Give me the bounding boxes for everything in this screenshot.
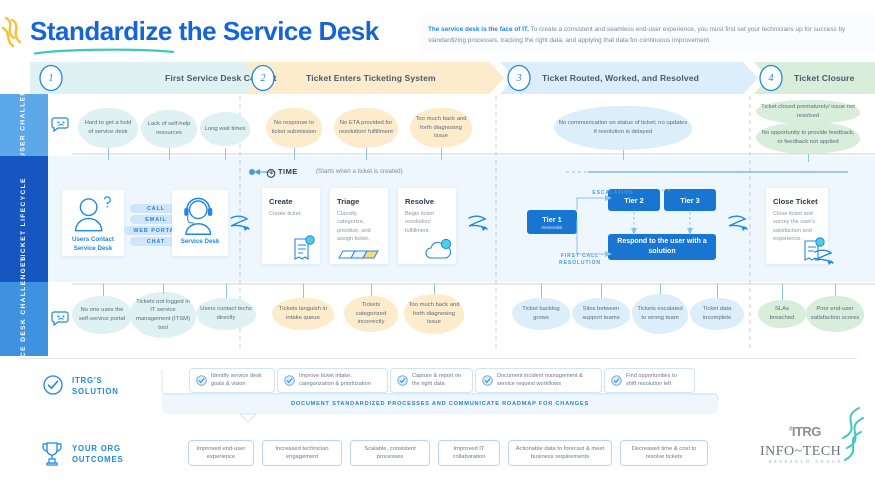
blob-euc-1-text: Lack of self-help resources	[145, 120, 193, 137]
solution-chip-1-label: Improve ticket intake, categorization & …	[299, 373, 381, 389]
blob-sdc-1-text: Tickets not logged in IT service managem…	[134, 298, 192, 332]
outcome-chip-1[interactable]: Increased technician engagement	[262, 440, 342, 466]
blob-sdc-0-text: No one uses the self-service portal	[76, 306, 128, 323]
solution-chip-2-label: Capture & report on the right data	[412, 373, 466, 389]
blob-sdc-4-text: Tickets categorized incorrectly	[348, 301, 394, 327]
time-note: (Starts when a ticket is created)	[316, 168, 403, 175]
lifecycle-card-create-title: Create	[269, 197, 313, 206]
arrow-squiggle-1-icon	[228, 212, 254, 238]
tick-sdc-11	[835, 284, 836, 296]
solution-chip-4[interactable]: Find opportunities to shift resolution l…	[604, 368, 695, 393]
blob-euc-2: Long wait times	[200, 112, 250, 146]
solution-chip-0[interactable]: Identify service desk goals & vision	[189, 368, 275, 393]
solution-chip-3-label: Document incident management & service r…	[497, 373, 595, 389]
lifecycle-card-resolve[interactable]: Resolve Begin ticket resolution/ fulfill…	[398, 188, 456, 264]
blob-euc-5-text: Too much back and forth diagnosing issue	[414, 115, 468, 141]
outcome-chip-0[interactable]: Improved end-user experience	[188, 440, 254, 466]
blob-sdc-8: Tickets escalated to wrong team	[632, 294, 688, 334]
blob-euc-8: No opportunity to provide feedback, or f…	[756, 122, 860, 154]
blob-euc-3: No response to ticket submission	[266, 108, 322, 148]
solution-check-icon-2	[397, 375, 408, 386]
blob-sdc-6-text: Ticket backlog grows	[516, 305, 566, 322]
blob-sdc-9-text: Ticket data incomplete	[694, 305, 740, 322]
tick-sdc-3	[303, 284, 304, 298]
outcomes-label-line1: YOUR ORG	[72, 444, 121, 453]
ticket-doc-icon	[291, 234, 317, 262]
blob-sdc-5: Too much back and forth diagnosing issue	[404, 294, 464, 334]
tick-euc-3	[294, 148, 295, 160]
solution-section-label: ITRG'S SOLUTION	[72, 376, 119, 397]
blob-sdc-5-text: Too much back and forth diagnosing issue	[408, 301, 460, 327]
blob-euc-6-text: No communication on status of ticket; no…	[558, 119, 688, 136]
outcome-chip-1-label: Increased technician engagement	[268, 445, 336, 461]
blob-euc-0: Hard to get a hold of service desk	[78, 108, 138, 148]
row-itrg-solution: ITRG'S SOLUTION Identify service desk go…	[0, 356, 875, 426]
stage-2[interactable]: 2 Ticket Enters Ticketing System	[244, 62, 504, 94]
blob-sdc-7: Silos between support teams	[572, 298, 630, 330]
lifecycle-card-create-desc: Create ticket.	[269, 210, 313, 218]
clock-icon	[266, 168, 276, 178]
itrg-logo-text: ITRG	[792, 424, 821, 439]
outcome-chip-5-label: Decreased time & cost to resolve tickets	[626, 445, 702, 461]
tick-euc-1	[169, 148, 170, 160]
outcomes-section-label: YOUR ORG OUTCOMES	[72, 444, 123, 465]
sorted-folders-icon	[337, 244, 379, 262]
itrg-logo: #ITRG	[789, 424, 821, 439]
stage-2-number: 2	[250, 64, 276, 92]
blob-sdc-2-text: Users contact techs directly	[200, 305, 252, 322]
stage-2-num-text: 2	[250, 64, 276, 92]
end-user-face-icon	[50, 112, 72, 134]
tick-sdc-4	[371, 284, 372, 296]
blob-sdc-9: Ticket data incomplete	[690, 298, 744, 330]
blob-sdc-0: No one uses the self-service portal	[72, 296, 132, 334]
header: Standardize the Service Desk The service…	[0, 0, 875, 62]
solution-top-divider	[18, 358, 857, 359]
lifecycle-card-triage[interactable]: Triage Classify, categorize, prioritize,…	[330, 188, 388, 264]
tick-euc-0	[108, 148, 109, 160]
solution-check-icon-4	[611, 375, 622, 386]
lifecycle-card-resolve-desc: Begin ticket resolution/ fulfillment.	[405, 210, 449, 235]
lifecycle-card-triage-desc: Classify, categorize, prioritize, and as…	[337, 210, 381, 244]
solution-label-line2: SOLUTION	[72, 387, 119, 396]
stage-3-number: 3	[506, 64, 532, 92]
headset-agent-icon	[175, 194, 225, 236]
outcome-chip-3-label: Improved IT collaboration	[444, 445, 494, 461]
blob-euc-0-text: Hard to get a hold of service desk	[82, 119, 134, 136]
lifecycle-card-create[interactable]: Create Create ticket.	[262, 188, 320, 264]
tick-euc-4	[366, 148, 367, 160]
outcome-chip-4-label: Actionable data to forecast & meet busin…	[514, 445, 606, 461]
stage-4-label: Ticket Closure	[794, 73, 854, 83]
tick-sdc-7	[601, 284, 602, 298]
blob-euc-2-text: Long wait times	[205, 125, 246, 134]
blob-sdc-10-text: SLAs breached	[762, 305, 802, 322]
lifecycle-card-resolve-title: Resolve	[405, 197, 449, 206]
blob-sdc-11-text: Poor end-user satisfaction scores	[810, 305, 860, 322]
stage-3[interactable]: 3 Ticket Routed, Worked, and Resolved	[500, 62, 758, 94]
blob-sdc-2: Users contact techs directly	[196, 298, 256, 330]
blob-euc-7-text: Ticket closed prematurely/ issue not res…	[760, 103, 856, 120]
arrow-squiggle-3-icon	[726, 212, 752, 238]
page-title: Standardize the Service Desk	[30, 16, 379, 47]
infographic-canvas: Standardize the Service Desk The service…	[0, 0, 875, 492]
blob-sdc-3-text: Tickets languish in intake queue	[276, 305, 330, 322]
blob-euc-8-text: No opportunity to provide feedback, or f…	[760, 129, 856, 146]
blob-sdc-6: Ticket backlog grows	[512, 298, 570, 330]
row-your-org-outcomes: YOUR ORG OUTCOMES Improved end-user expe…	[0, 426, 875, 492]
blob-sdc-10: SLAs breached	[758, 300, 806, 328]
solution-check-icon-0	[196, 375, 207, 386]
stage-banner: 1 First Service Desk Contact 2 Ticket En…	[0, 62, 875, 94]
tick-sdc-8	[660, 284, 661, 294]
outcome-chip-3[interactable]: Improved IT collaboration	[438, 440, 500, 466]
node-service-desk[interactable]: Service Desk	[172, 190, 228, 256]
tick-sdc-10	[782, 284, 783, 300]
arrow-squiggle-2-icon	[466, 212, 492, 238]
blob-sdc-1: Tickets not logged in IT service managem…	[130, 292, 196, 338]
blob-sdc-3: Tickets languish in intake queue	[272, 298, 334, 330]
stage-4[interactable]: 4 Ticket Closure	[754, 62, 875, 94]
tick-euc-6	[623, 150, 624, 160]
node-users-contact-label: Users Contact Service Desk	[62, 236, 124, 253]
blob-euc-7: Ticket closed prematurely/ issue not res…	[756, 100, 860, 124]
blob-sdc-7-text: Silos between support teams	[576, 305, 626, 322]
solution-chip-1[interactable]: Improve ticket intake, categorization & …	[277, 368, 388, 393]
resolve-cloud-icon	[424, 238, 454, 262]
solution-chip-0-label: Identify service desk goals & vision	[211, 373, 268, 389]
outcome-chip-0-label: Improved end-user experience	[194, 445, 248, 461]
intro-paragraph: The service desk is the face of IT. To c…	[428, 24, 858, 46]
outcome-chip-4[interactable]: Actionable data to forecast & meet busin…	[508, 440, 612, 466]
stage-1-number: 1	[38, 64, 64, 92]
tick-euc-2	[225, 148, 226, 160]
stage-2-label: Ticket Enters Ticketing System	[306, 73, 436, 83]
teal-squiggle-icon	[829, 406, 869, 466]
service-desk-face-icon	[50, 306, 72, 328]
stage-4-num-text: 4	[758, 64, 784, 92]
solution-check-icon-1	[284, 375, 295, 386]
tick-sdc-9	[717, 284, 718, 298]
arrow-squiggle-4-icon	[812, 246, 838, 272]
tab-end-user-challenges: END-USER CHALLENGES	[0, 94, 48, 156]
yellow-squiggle-icon	[2, 16, 28, 50]
tick-sdc-5	[434, 284, 435, 294]
user-avatar-icon	[66, 194, 120, 236]
blob-euc-6: No communication on status of ticket; no…	[554, 106, 692, 150]
trophy-icon	[40, 440, 64, 466]
stage-3-label: Ticket Routed, Worked, and Resolved	[542, 73, 699, 83]
solution-check-icon-3	[482, 375, 493, 386]
tier-flow-arrows	[520, 186, 720, 266]
stage-1-num-text: 1	[38, 64, 64, 92]
solution-banner-label: DOCUMENT STANDARDIZED PROCESSES AND COMM…	[291, 401, 589, 407]
blob-euc-4-text: No ETA provided for resolution/ fulfillm…	[338, 119, 394, 136]
intro-lead: The service desk is the face of IT.	[428, 26, 529, 33]
solution-chip-2[interactable]: Capture & report on the right data	[390, 368, 473, 393]
channel-pill-chat-label: CHAT	[147, 239, 165, 245]
tick-sdc-6	[541, 284, 542, 298]
tick-sdc-1	[163, 284, 164, 294]
tab-ticket-lifecycle-label: TICKET LIFECYCLE	[20, 177, 29, 262]
check-circle-icon	[42, 374, 64, 396]
blob-euc-4: No ETA provided for resolution/ fulfillm…	[334, 108, 398, 148]
lifecycle-card-triage-title: Triage	[337, 197, 381, 206]
channel-pill-call-label: CALL	[147, 206, 165, 212]
solution-label-line1: ITRG'S	[72, 376, 102, 385]
outcome-chip-2-label: Scalable, consistent processes	[356, 445, 424, 461]
blob-sdc-4: Tickets categorized incorrectly	[344, 296, 398, 332]
blob-sdc-8-text: Tickets escalated to wrong team	[636, 305, 684, 322]
solution-chip-4-label: Find opportunities to shift resolution l…	[626, 373, 688, 389]
tick-euc-7	[808, 154, 809, 162]
blob-sdc-11: Poor end-user satisfaction scores	[806, 296, 864, 332]
node-users-contact[interactable]: Users Contact Service Desk	[62, 190, 124, 256]
time-label: TIME	[278, 167, 298, 176]
tick-sdc-0	[103, 284, 104, 296]
channel-pill-email-label: EMAIL	[145, 217, 166, 223]
stage-3-num-text: 3	[506, 64, 532, 92]
tick-sdc-2	[226, 284, 227, 298]
stage-4-number: 4	[758, 64, 784, 92]
solution-banner: DOCUMENT STANDARDIZED PROCESSES AND COMM…	[162, 393, 718, 414]
blob-euc-3-text: No response to ticket submission	[270, 119, 318, 136]
teal-underline-icon	[34, 48, 174, 55]
outcome-chip-2[interactable]: Scalable, consistent processes	[350, 440, 430, 466]
outcomes-label-line2: OUTCOMES	[72, 455, 123, 464]
node-service-desk-label: Service Desk	[172, 238, 228, 245]
lifecycle-card-close-title: Close Ticket	[773, 197, 821, 206]
outcome-chip-5[interactable]: Decreased time & cost to resolve tickets	[620, 440, 708, 466]
tab-service-desk-challenges: SERVICE DESK CHALLENGES	[0, 282, 48, 356]
tick-euc-5	[441, 148, 442, 160]
blob-euc-5: Too much back and forth diagnosing issue	[410, 108, 472, 148]
solution-chip-3[interactable]: Document incident management & service r…	[475, 368, 602, 393]
blob-euc-1: Lack of self-help resources	[141, 110, 197, 148]
